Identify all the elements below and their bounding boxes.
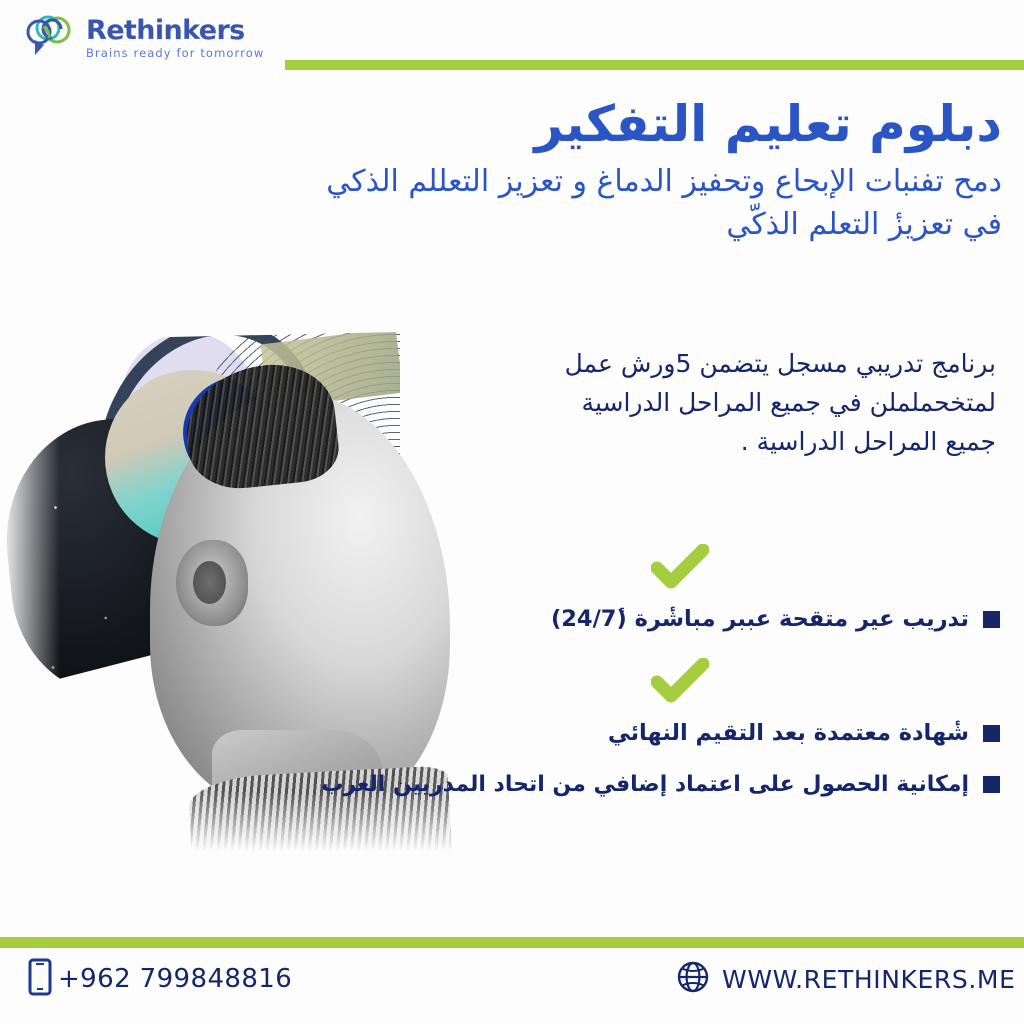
footer-bar: +962 799848816 WWW.RETHINKERS.ME	[0, 948, 1024, 1024]
feature-item-3: إمكانية الحصول على اعتماد إضافي من اتحاد…	[360, 772, 1000, 797]
feature-item-2: شٔهادة معتمدة بعد التقيم النهائي	[360, 720, 1000, 746]
boy-ear	[176, 540, 248, 626]
feature-label-3: إمكانية الحصول على اعتماد إضافي من اتحاد…	[321, 772, 969, 797]
brand-name: Rethinkers	[86, 17, 264, 44]
phone-contact[interactable]: +962 799848816	[28, 958, 292, 1000]
feature-label-2: شٔهادة معتمدة بعد التقيم النهائي	[608, 720, 969, 746]
green-check-icon	[651, 544, 709, 590]
description-line-3: جميع المراحل الدراسية .	[396, 423, 996, 462]
feature-check-2	[360, 654, 1000, 710]
website-contact[interactable]: WWW.RETHINKERS.ME	[676, 960, 1016, 998]
navy-square-bullet-icon	[983, 611, 1000, 628]
overlapping-speech-bubbles-icon	[26, 14, 76, 62]
brand-logo[interactable]: Rethinkers Brains ready for tomorrow	[26, 14, 264, 62]
feature-list: تدريب عير متقحة عببر مباشٔرة (24/7ٔ) شٔه…	[360, 540, 1000, 797]
headline-block: دبلوم تعليم التفكير دمح تفنبات الإبحاع و…	[122, 96, 1002, 245]
phone-number: +962 799848816	[58, 964, 292, 994]
description-line-2: لمتخحململن في جميع المراحل الدراسية	[396, 384, 996, 423]
page-title: دبلوم تعليم التفكير	[122, 96, 1002, 152]
globe-icon	[676, 960, 710, 998]
mobile-phone-icon	[28, 958, 52, 1000]
website-url: WWW.RETHINKERS.ME	[722, 965, 1016, 994]
bottom-green-divider	[0, 937, 1024, 948]
subtitle-line-2: في تعزيزٔ التعلم الذكّي	[122, 205, 1002, 246]
feature-label-1: تدريب عير متقحة عببر مباشٔرة (24/7ٔ)	[551, 606, 969, 632]
navy-square-bullet-icon	[983, 776, 1000, 793]
image-left-fade	[0, 332, 60, 862]
subtitle-line-1: دمح تفنبات الإبحاع وتحفيز الدماغ و تعزيز…	[122, 162, 1002, 203]
flyer-page: Rethinkers Brains ready for tomorrow دبل…	[0, 0, 1024, 1024]
green-check-icon	[651, 658, 709, 704]
top-green-divider	[285, 60, 1024, 70]
feature-item-1: تدريب عير متقحة عببر مباشٔرة (24/7ٔ)	[360, 606, 1000, 632]
brand-tagline: Brains ready for tomorrow	[86, 48, 264, 60]
navy-square-bullet-icon	[983, 725, 1000, 742]
description-line-1: برنامج تدريبي مسجل يتضمن 5ورش عمل	[396, 345, 996, 384]
image-bottom-fade	[0, 792, 470, 862]
description-paragraph: برنامج تدريبي مسجل يتضمن 5ورش عمل لمتخحم…	[396, 345, 996, 461]
feature-check-1	[360, 540, 1000, 596]
